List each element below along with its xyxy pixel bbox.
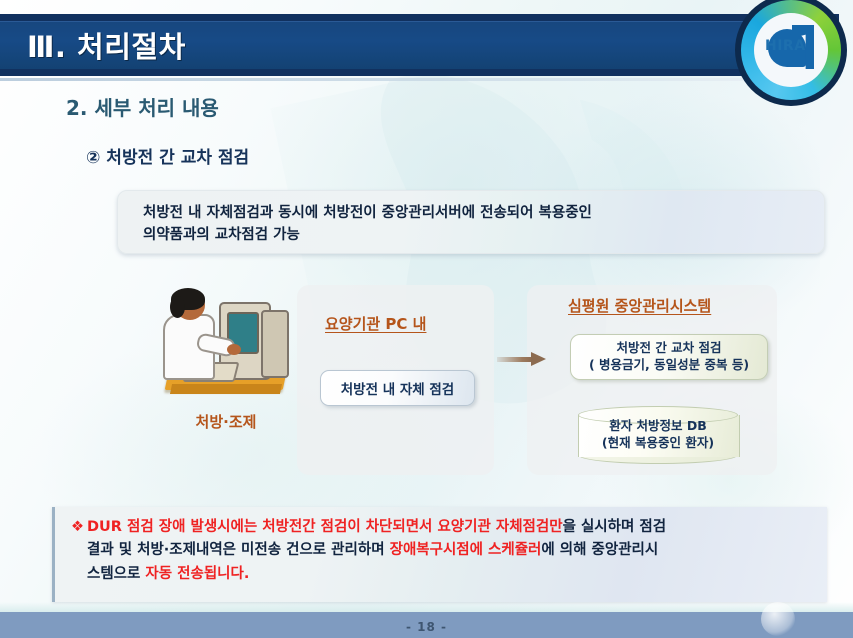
arrow-shaft [497,357,533,362]
section-heading: 2. 세부 처리 내용 [66,92,219,121]
note-line-1: ❖DUR 점검 장애 발생시에는 처방전간 점검이 차단되면서 요양기관 자체점… [71,516,819,539]
note-line-2-navy-b: 에 의해 중앙관리시 [541,542,658,558]
note-line-3-navy: 스템으로 [87,566,145,582]
page-title: Ⅲ. 처리절차 [27,24,186,66]
database-label: 환자 처방정보 DB (현재 복용중인 환자) [578,418,738,452]
logo-disc: HIRA [754,13,828,87]
header-rule [0,78,820,81]
self-check-label: 처방전 내 자체 점검 [341,378,454,398]
page-number: - 18 - [0,620,853,634]
cross-check-line-2: ( 병용금기, 동일성분 중복 등) [589,357,749,374]
note-text: ❖DUR 점검 장애 발생시에는 처방전간 점검이 차단되면서 요양기관 자체점… [71,516,819,586]
desk-front-shape [170,384,282,394]
subsection-heading: ② 처방전 간 교차 점검 [86,143,249,168]
pharmacist-computer-illustration [157,288,295,408]
logo-wordmark: HIRA [765,38,806,54]
note-line-1-navy: 을 실시하며 점검 [563,519,666,535]
clipart-label: 처방·조제 [157,411,295,432]
database-line-1: 환자 처방정보 DB [609,418,707,433]
description-text: 처방전 내 자체점검과 동시에 처방전이 중앙관리서버에 전송되어 복용중인 의… [143,202,803,247]
hira-logo: HIRA [735,0,847,106]
note-line-3-red: 자동 전송됩니다. [145,566,249,582]
person-hair-side-shape [170,296,185,318]
note-box: ❖DUR 점검 장애 발생시에는 처방전간 점검이 차단되면서 요양기관 자체점… [52,507,827,602]
left-panel-label: 요양기관 PC 내 [325,313,426,334]
note-line-2-navy-a: 결과 및 처방·조제내역은 미전송 건으로 관리하며 [87,542,390,558]
computer-tower-icon [261,310,289,378]
person-hand-shape [227,344,241,355]
description-box: 처방전 내 자체점검과 동시에 처방전이 중앙관리서버에 전송되어 복용중인 의… [117,190,825,254]
footer-bar: - 18 - [0,612,853,638]
database-line-2: (현재 복용중인 환자) [602,435,714,450]
database-cylinder-icon: 환자 처방정보 DB (현재 복용중인 환자) [578,406,738,466]
cross-check-box: 처방전 간 교차 점검 ( 병용금기, 동일성분 중복 등) [570,334,768,380]
note-line-2: 결과 및 처방·조제내역은 미전송 건으로 관리하며 장애복구시점에 스케쥴러에… [71,539,819,562]
right-panel-label: 심평원 중앙관리시스템 [568,295,711,316]
note-line-2-red: 장애복구시점에 스케쥴러 [390,542,542,558]
slide-canvas: Ⅲ. 처리절차 HIRA 2. 세부 처리 내용 ② 처방전 간 교차 점검 처… [0,0,853,638]
self-check-box: 처방전 내 자체 점검 [320,370,475,406]
note-line-3: 스템으로 자동 전송됩니다. [71,563,819,586]
description-line-1: 처방전 내 자체점검과 동시에 처방전이 중앙관리서버에 전송되어 복용중인 [143,205,592,221]
logo-mark-icon: HIRA [762,25,820,75]
note-line-1-red: DUR 점검 장애 발생시에는 처방전간 점검이 차단되면서 요양기관 자체점검… [87,519,563,535]
arrow-head [531,352,546,366]
flow-arrow-icon [497,352,551,366]
description-line-2: 의약품과의 교차점검 가능 [143,227,300,243]
diamond-bullet-icon: ❖ [71,519,84,535]
cross-check-line-1: 처방전 간 교차 점검 [616,340,721,357]
footer-shade [0,602,853,612]
